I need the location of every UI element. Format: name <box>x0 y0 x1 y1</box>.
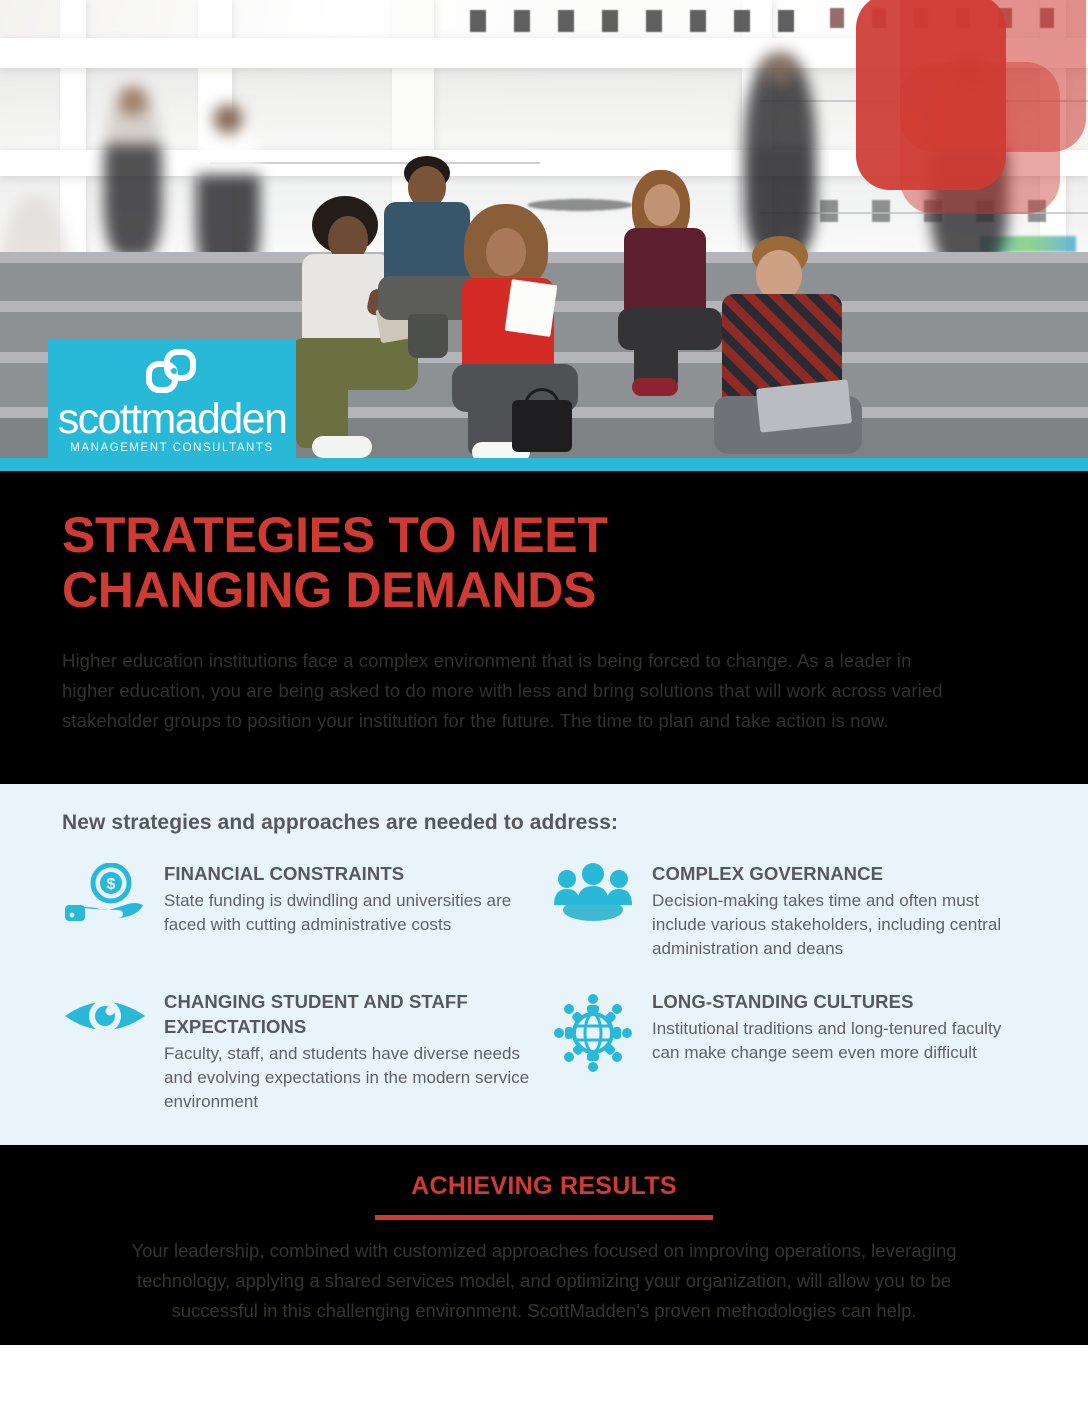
page-title: STRATEGIES TO MEET CHANGING DEMANDS <box>62 508 1026 618</box>
headline-line-2: CHANGING DEMANDS <box>62 562 596 618</box>
svg-text:$: $ <box>107 876 116 893</box>
eye-icon <box>62 987 148 1061</box>
floor-slab <box>0 150 1088 176</box>
challenges-grid: $ FINANCIAL CONSTRAINTS State funding is… <box>62 859 1026 1114</box>
challenge-body: Institutional traditions and long-tenure… <box>652 1017 1026 1065</box>
globe-with-people-icon <box>550 987 636 1061</box>
page-footer-whitespace <box>0 1358 1088 1408</box>
challenge-heading: COMPLEX GOVERNANCE <box>652 861 1026 886</box>
challenge-heading: CHANGING STUDENT AND STAFF EXPECTATIONS <box>164 989 542 1039</box>
blurred-person <box>744 52 816 260</box>
results-title: ACHIEVING RESULTS <box>0 1172 1088 1201</box>
blurred-person <box>930 56 1008 270</box>
floor-slab <box>0 38 1088 68</box>
challenges-title: New strategies and approaches are needed… <box>62 811 1026 835</box>
logo-tagline: MANAGEMENT CONSULTANTS <box>70 442 273 454</box>
challenge-heading: FINANCIAL CONSTRAINTS <box>164 861 542 886</box>
teal-divider-bar <box>0 458 1088 471</box>
headline-line-1: STRATEGIES TO MEET <box>62 507 608 563</box>
furniture-row <box>830 8 1080 28</box>
challenges-section: New strategies and approaches are needed… <box>0 784 1088 1145</box>
results-underline <box>375 1215 713 1220</box>
challenge-body: State funding is dwindling and universit… <box>164 889 542 937</box>
results-section: ACHIEVING RESULTS Your leadership, combi… <box>0 1145 1088 1345</box>
student-seated <box>616 170 726 400</box>
logo-wordmark: scottmadden <box>58 397 287 441</box>
railing <box>210 162 540 164</box>
challenge-item: $ FINANCIAL CONSTRAINTS State funding is… <box>62 859 542 961</box>
intro-paragraph: Higher education institutions face a com… <box>62 646 952 736</box>
challenge-item: LONG-STANDING CULTURES Institutional tra… <box>550 987 1026 1114</box>
challenge-item: CHANGING STUDENT AND STAFF EXPECTATIONS … <box>62 987 542 1114</box>
interlocking-squares-icon <box>146 349 198 395</box>
furniture-row <box>470 10 800 32</box>
scottmadden-logo: scottmadden MANAGEMENT CONSULTANTS <box>48 340 296 458</box>
results-paragraph: Your leadership, combined with customize… <box>129 1236 959 1326</box>
challenge-body: Decision-making takes time and often mus… <box>652 889 1026 961</box>
blurred-person <box>104 86 162 258</box>
hand-holding-dollar-coin-icon: $ <box>62 859 148 933</box>
hero-banner: scottmadden MANAGEMENT CONSULTANTS <box>0 0 1088 458</box>
challenge-body: Faculty, staff, and students have divers… <box>164 1042 542 1114</box>
challenge-item: COMPLEX GOVERNANCE Decision-making takes… <box>550 859 1026 961</box>
floor-band <box>0 68 1088 150</box>
challenge-heading: LONG-STANDING CULTURES <box>652 989 1026 1014</box>
intro-section: STRATEGIES TO MEET CHANGING DEMANDS High… <box>0 458 1088 784</box>
group-of-people-icon <box>550 859 636 933</box>
handbag <box>512 400 572 452</box>
student-seated <box>714 236 864 458</box>
